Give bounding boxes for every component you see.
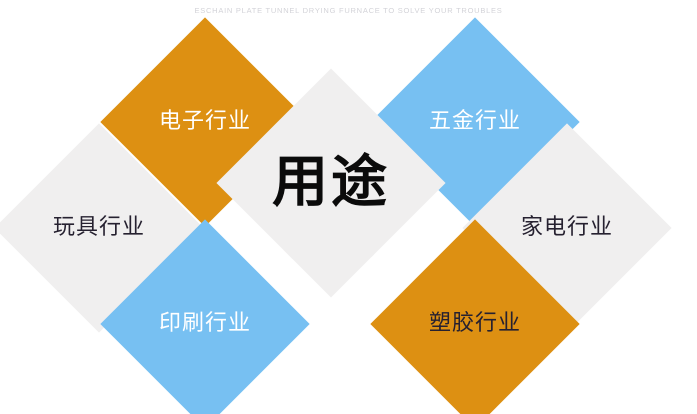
diamond-label-toys: 玩具行业 bbox=[53, 217, 145, 239]
center-title: 用途 bbox=[272, 155, 390, 211]
diagram-canvas: ESCHAIN PLATE TUNNEL DRYING FURNACE TO S… bbox=[0, 0, 697, 414]
diamond-label-plastic: 塑胶行业 bbox=[429, 313, 521, 335]
diamond-label-appliance: 家电行业 bbox=[521, 217, 613, 239]
diamond-label-printing: 印刷行业 bbox=[159, 313, 251, 335]
diamond-label-electronics: 电子行业 bbox=[159, 111, 251, 133]
header-banner: ESCHAIN PLATE TUNNEL DRYING FURNACE TO S… bbox=[0, 0, 697, 20]
banner-title: ESCHAIN PLATE TUNNEL DRYING FURNACE TO S… bbox=[194, 6, 502, 15]
diamond-label-hardware: 五金行业 bbox=[429, 111, 521, 133]
